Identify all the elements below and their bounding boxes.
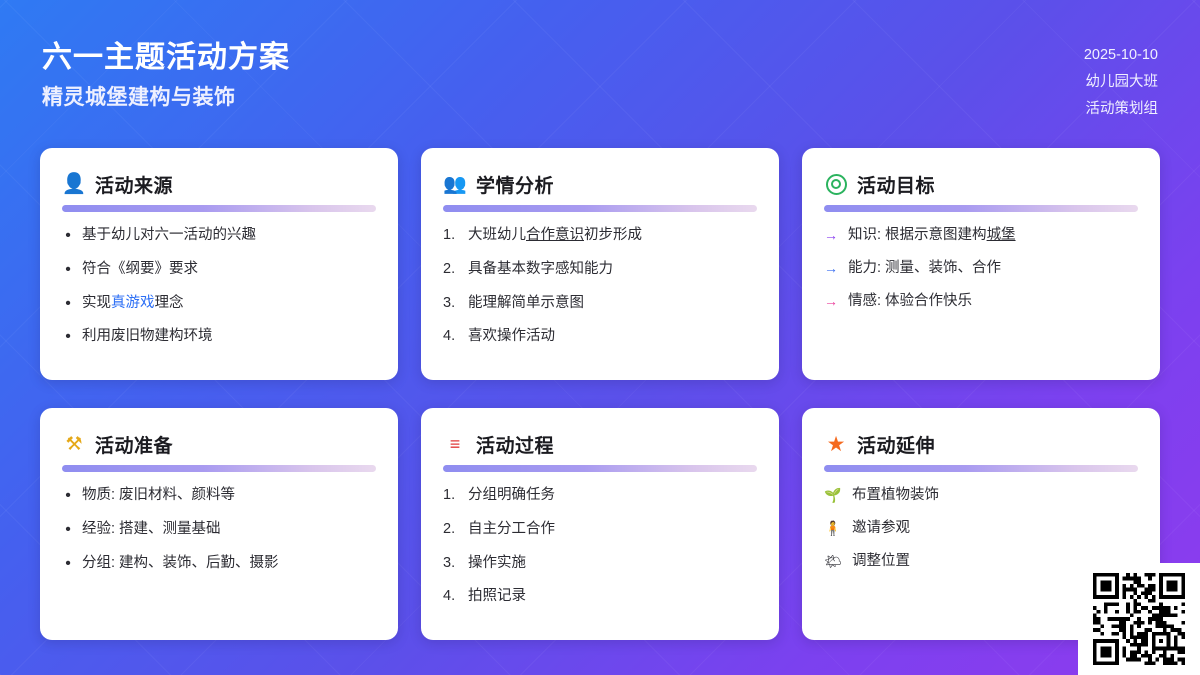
person-standing-icon: 👤 bbox=[62, 174, 87, 194]
list-item: 🧍邀请参观 bbox=[824, 518, 1138, 540]
item-text: 物质: 废旧材料、颜料等 bbox=[82, 485, 376, 507]
card-icon-wrap: ≡ bbox=[443, 432, 467, 456]
item-text: 分组: 建构、装饰、后勤、摄影 bbox=[82, 553, 376, 575]
meta-author: 活动策划组 bbox=[1084, 96, 1158, 123]
bullet-dot-icon: • bbox=[62, 519, 74, 541]
item-text: 实现真游戏理念 bbox=[82, 293, 376, 315]
card-body: •物质: 废旧材料、颜料等•经验: 搭建、测量基础•分组: 建构、装饰、后勤、摄… bbox=[62, 485, 376, 574]
card-icon-wrap: ⚒ bbox=[62, 432, 86, 456]
item-text: 符合《纲要》要求 bbox=[82, 259, 376, 281]
item-text: 分组明确任务 bbox=[468, 485, 757, 507]
list-item: •分组: 建构、装饰、后勤、摄影 bbox=[62, 553, 376, 575]
list-item: →情感: 体验合作快乐 bbox=[824, 291, 1138, 313]
tools-icon: ⚒ bbox=[65, 435, 82, 454]
list-item: →能力: 测量、装饰、合作 bbox=[824, 258, 1138, 280]
card-title: 学情分析 bbox=[476, 171, 554, 198]
card-body: 1.大班幼儿合作意识初步形成2.具备基本数字感知能力3.能理解简单示意图4.喜欢… bbox=[443, 225, 757, 348]
list-number: 1. bbox=[443, 225, 460, 247]
card-activity-goals: 活动目标→知识: 根据示意图建构城堡→能力: 测量、装饰、合作→情感: 体验合作… bbox=[802, 148, 1160, 380]
slide-canvas: 六一主题活动方案 精灵城堡建构与装饰 2025-10-10 幼儿园大班 活动策划… bbox=[0, 0, 1200, 675]
list-number: 2. bbox=[443, 519, 460, 541]
list-number: 4. bbox=[443, 586, 460, 608]
sun-behind-cloud-icon: 🌤 bbox=[824, 551, 844, 572]
page-title: 六一主题活动方案 bbox=[42, 38, 290, 77]
qr-code[interactable] bbox=[1093, 573, 1185, 665]
card-icon-wrap: 👥 bbox=[443, 172, 467, 196]
arrow-right-icon: → bbox=[824, 258, 840, 279]
item-text: 大班幼儿合作意识初步形成 bbox=[468, 225, 757, 247]
item-text: 知识: 根据示意图建构城堡 bbox=[848, 225, 1138, 247]
item-highlight: 合作意识 bbox=[526, 227, 584, 243]
item-text: 操作实施 bbox=[468, 553, 757, 575]
card-body: •基于幼儿对六一活动的兴趣•符合《纲要》要求•实现真游戏理念•利用废旧物建构环境 bbox=[62, 225, 376, 348]
list-item: •经验: 搭建、测量基础 bbox=[62, 519, 376, 541]
card-title: 活动来源 bbox=[95, 171, 173, 198]
header-meta: 2025-10-10 幼儿园大班 活动策划组 bbox=[1084, 42, 1158, 122]
list-item: •基于幼儿对六一活动的兴趣 bbox=[62, 225, 376, 247]
list-item: •利用废旧物建构环境 bbox=[62, 326, 376, 348]
card-body: 1.分组明确任务2.自主分工合作3.操作实施4.拍照记录 bbox=[443, 485, 757, 608]
arrow-right-icon: → bbox=[824, 291, 840, 312]
seedling-icon: 🌱 bbox=[824, 485, 844, 506]
card-body: →知识: 根据示意图建构城堡→能力: 测量、装饰、合作→情感: 体验合作快乐 bbox=[824, 225, 1138, 312]
list-number: 1. bbox=[443, 485, 460, 507]
card-header: ≡活动过程 bbox=[443, 430, 757, 458]
card-title: 活动延伸 bbox=[857, 431, 935, 458]
card-grid: 👤活动来源•基于幼儿对六一活动的兴趣•符合《纲要》要求•实现真游戏理念•利用废旧… bbox=[40, 148, 1160, 640]
card-header: 👤活动来源 bbox=[62, 170, 376, 198]
item-text: 能理解简单示意图 bbox=[468, 293, 757, 315]
card-header: 👥学情分析 bbox=[443, 170, 757, 198]
checklist-icon: ≡ bbox=[450, 435, 461, 453]
item-text: 经验: 搭建、测量基础 bbox=[82, 519, 376, 541]
card-icon-wrap: ★ bbox=[824, 432, 848, 456]
list-item: 1.分组明确任务 bbox=[443, 485, 757, 507]
card-divider bbox=[62, 205, 376, 212]
qr-panel[interactable] bbox=[1078, 563, 1200, 675]
list-number: 3. bbox=[443, 553, 460, 575]
card-title: 活动目标 bbox=[857, 171, 935, 198]
card-header: 活动目标 bbox=[824, 170, 1138, 198]
list-item: 2.自主分工合作 bbox=[443, 519, 757, 541]
list-item: 🌱布置植物装饰 bbox=[824, 485, 1138, 507]
bullet-dot-icon: • bbox=[62, 293, 74, 315]
list-item: 4.拍照记录 bbox=[443, 586, 757, 608]
page-subtitle: 精灵城堡建构与装饰 bbox=[42, 81, 290, 111]
card-icon-wrap bbox=[824, 172, 848, 196]
list-number: 2. bbox=[443, 259, 460, 281]
bullet-dot-icon: • bbox=[62, 259, 74, 281]
item-text: 拍照记录 bbox=[468, 586, 757, 608]
list-item: 2.具备基本数字感知能力 bbox=[443, 259, 757, 281]
item-text: 利用废旧物建构环境 bbox=[82, 326, 376, 348]
list-item: 4.喜欢操作活动 bbox=[443, 326, 757, 348]
list-item: 3.操作实施 bbox=[443, 553, 757, 575]
title-block: 六一主题活动方案 精灵城堡建构与装饰 bbox=[42, 38, 290, 111]
list-item: •实现真游戏理念 bbox=[62, 293, 376, 315]
card-divider bbox=[62, 465, 376, 472]
item-text: 基于幼儿对六一活动的兴趣 bbox=[82, 225, 376, 247]
bullet-dot-icon: • bbox=[62, 326, 74, 348]
person-standing-icon: 🧍 bbox=[824, 518, 844, 539]
item-text: 喜欢操作活动 bbox=[468, 326, 757, 348]
card-activity-source: 👤活动来源•基于幼儿对六一活动的兴趣•符合《纲要》要求•实现真游戏理念•利用废旧… bbox=[40, 148, 398, 380]
card-learner-analysis: 👥学情分析1.大班幼儿合作意识初步形成2.具备基本数字感知能力3.能理解简单示意… bbox=[421, 148, 779, 380]
item-highlight: 城堡 bbox=[987, 227, 1016, 243]
list-item: 1.大班幼儿合作意识初步形成 bbox=[443, 225, 757, 247]
card-header: ⚒活动准备 bbox=[62, 430, 376, 458]
item-text: 具备基本数字感知能力 bbox=[468, 259, 757, 281]
meta-date: 2025-10-10 bbox=[1084, 42, 1158, 69]
card-title: 活动过程 bbox=[476, 431, 554, 458]
list-number: 4. bbox=[443, 326, 460, 348]
item-highlight[interactable]: 真游戏 bbox=[111, 295, 155, 311]
card-icon-wrap: 👤 bbox=[62, 172, 86, 196]
bullet-dot-icon: • bbox=[62, 225, 74, 247]
list-item: •符合《纲要》要求 bbox=[62, 259, 376, 281]
card-activity-process: ≡活动过程1.分组明确任务2.自主分工合作3.操作实施4.拍照记录 bbox=[421, 408, 779, 640]
list-item: •物质: 废旧材料、颜料等 bbox=[62, 485, 376, 507]
people-group-icon: 👥 bbox=[443, 175, 467, 194]
item-text: 自主分工合作 bbox=[468, 519, 757, 541]
card-header: ★活动延伸 bbox=[824, 430, 1138, 458]
card-divider bbox=[824, 205, 1138, 212]
card-divider bbox=[824, 465, 1138, 472]
item-text: 邀请参观 bbox=[852, 518, 1138, 540]
card-divider bbox=[443, 465, 757, 472]
card-body: 🌱布置植物装饰🧍邀请参观🌤调整位置 bbox=[824, 485, 1138, 572]
card-divider bbox=[443, 205, 757, 212]
bullet-dot-icon: • bbox=[62, 553, 74, 575]
list-item: →知识: 根据示意图建构城堡 bbox=[824, 225, 1138, 247]
meta-audience: 幼儿园大班 bbox=[1084, 69, 1158, 96]
item-text: 能力: 测量、装饰、合作 bbox=[848, 258, 1138, 280]
arrow-right-icon: → bbox=[824, 225, 840, 246]
card-title: 活动准备 bbox=[95, 431, 173, 458]
star-icon: ★ bbox=[827, 434, 846, 455]
slide-header: 六一主题活动方案 精灵城堡建构与装饰 2025-10-10 幼儿园大班 活动策划… bbox=[0, 0, 1200, 140]
bullet-dot-icon: • bbox=[62, 485, 74, 507]
target-icon bbox=[826, 174, 847, 195]
list-number: 3. bbox=[443, 293, 460, 315]
card-activity-preparation: ⚒活动准备•物质: 废旧材料、颜料等•经验: 搭建、测量基础•分组: 建构、装饰… bbox=[40, 408, 398, 640]
item-text: 情感: 体验合作快乐 bbox=[848, 291, 1138, 313]
list-item: 3.能理解简单示意图 bbox=[443, 293, 757, 315]
item-text: 布置植物装饰 bbox=[852, 485, 1138, 507]
